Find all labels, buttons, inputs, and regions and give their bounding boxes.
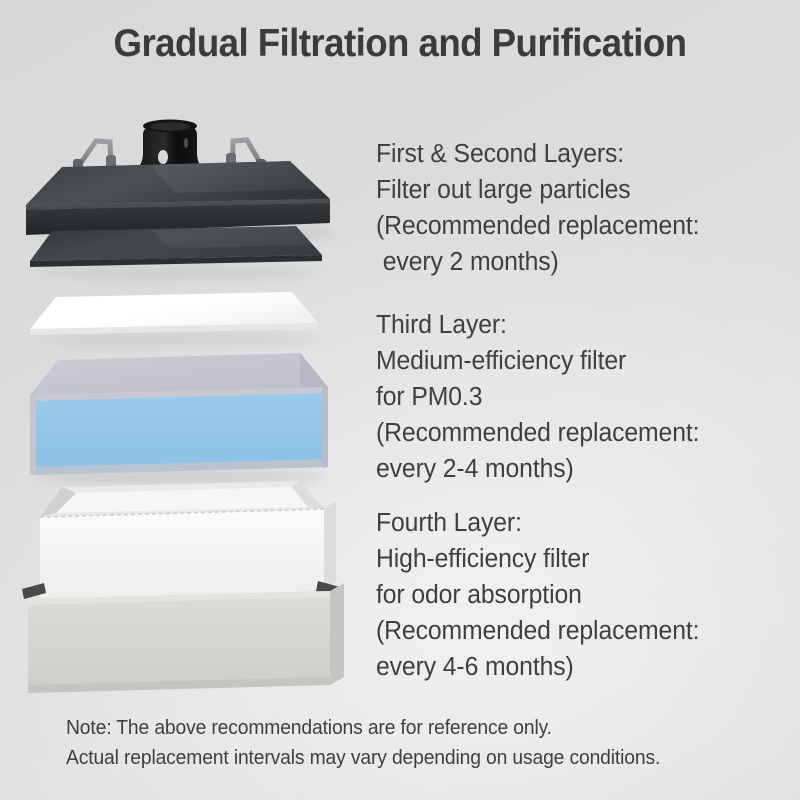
third-layer-sheet (30, 292, 318, 347)
text-block-fourth-layer: Fourth Layer: High-efficiency filter for… (376, 505, 699, 685)
hepa-filter-tray (22, 481, 340, 599)
text-block-first-second-layers: First & Second Layers: Filter out large … (376, 136, 699, 280)
second-layer-sheet (30, 226, 322, 280)
first-layer-panel (26, 120, 335, 244)
infographic-canvas: Gradual Filtration and Purification (0, 0, 800, 800)
text-block-third-layer: Third Layer: Medium-efficiency filter fo… (376, 307, 699, 487)
page-title: Gradual Filtration and Purification (24, 22, 776, 66)
unit-body (28, 583, 344, 693)
filter-stack-diagram (0, 95, 370, 695)
footnote: Note: The above recommendations are for … (66, 713, 660, 773)
pm-filter-block (30, 353, 328, 486)
